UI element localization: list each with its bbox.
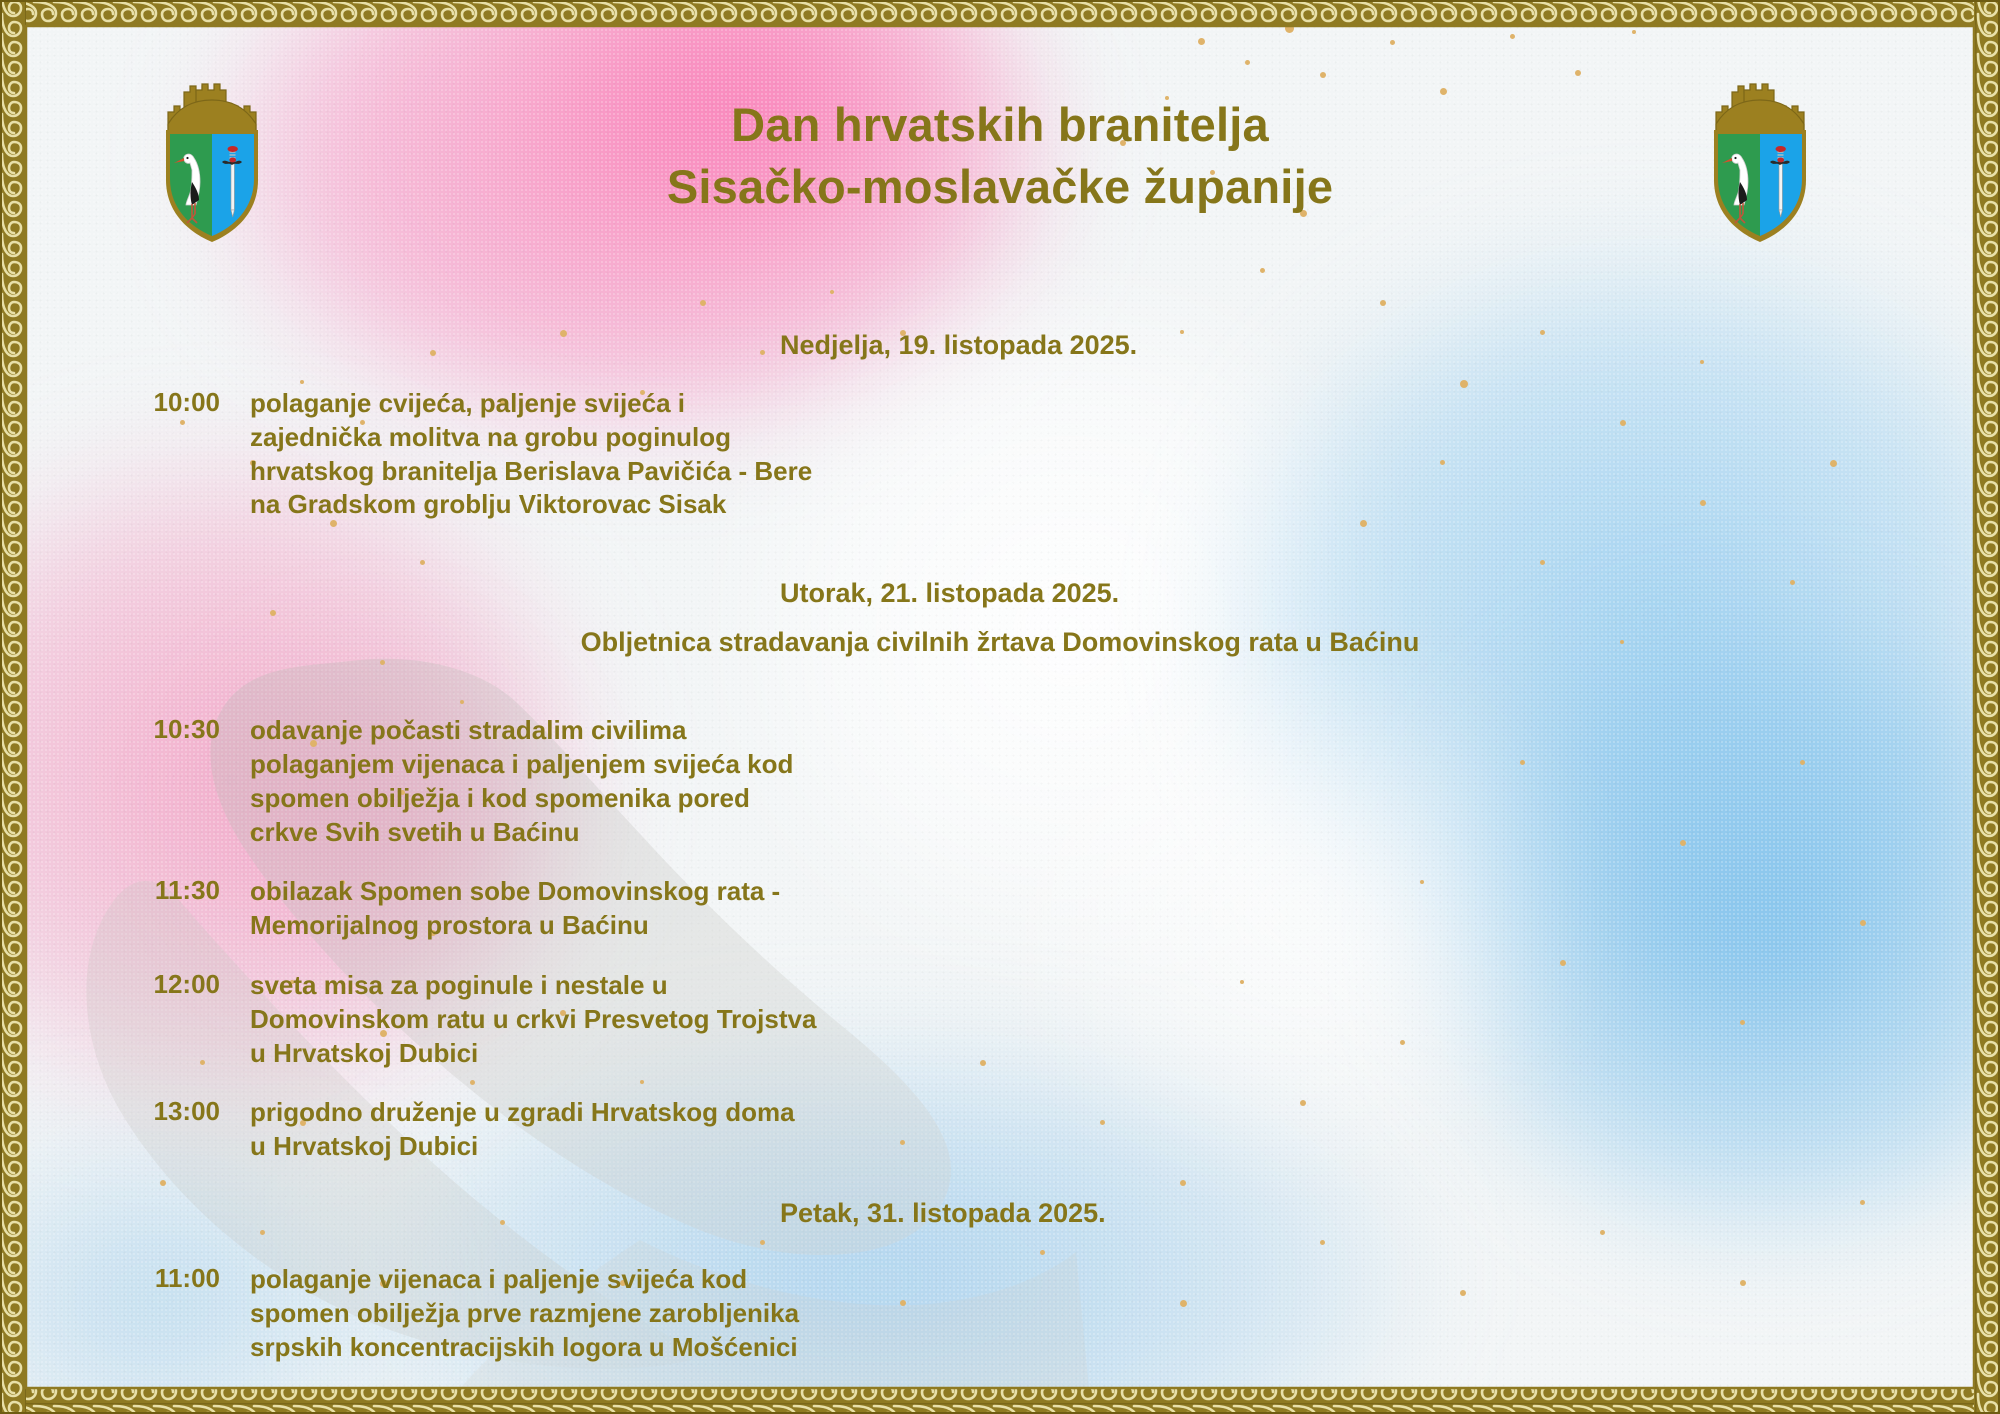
event-line: zajednička molitva na grobu poginulog (250, 421, 2000, 455)
page-title: Dan hrvatskih branitelja Sisačko-moslava… (0, 94, 2000, 218)
schedule-row: 10:30 odavanje počasti stradalim civilim… (0, 714, 2000, 849)
event-time: 10:30 (0, 714, 250, 849)
event-line: na Gradskom groblju Viktorovac Sisak (250, 488, 2000, 522)
event-line: polaganje vijenaca i paljenje svijeća ko… (250, 1263, 2000, 1297)
event-time: 10:00 (0, 387, 250, 522)
date-heading-2: Utorak, 21. listopada 2025. (780, 578, 2000, 609)
event-description: odavanje počasti stradalim civilima pola… (250, 714, 2000, 849)
event-line: hrvatskog branitelja Berislava Pavičića … (250, 455, 2000, 489)
event-line: srpskih koncentracijskih logora u Mošćen… (250, 1331, 2000, 1365)
schedule-row: 10:00 polaganje cvijeća, paljenje svijeć… (0, 387, 2000, 522)
date-heading-1: Nedjelja, 19. listopada 2025. (780, 330, 2000, 361)
event-line: Memorijalnog prostora u Baćinu (250, 909, 2000, 943)
event-time: 11:30 (0, 875, 250, 943)
event-description: obilazak Spomen sobe Domovinskog rata - … (250, 875, 2000, 943)
schedule: Nedjelja, 19. listopada 2025. 10:00 pola… (0, 330, 2000, 1364)
event-line: spomen obilježja prve razmjene zarobljen… (250, 1297, 2000, 1331)
schedule-row: 12:00 sveta misa za poginule i nestale u… (0, 969, 2000, 1070)
anniversary-subtitle: Obljetnica stradavanja civilnih žrtava D… (0, 627, 2000, 658)
event-line: u Hrvatskoj Dubici (250, 1037, 2000, 1071)
schedule-row: 13:00 prigodno druženje u zgradi Hrvatsk… (0, 1096, 2000, 1164)
event-line: odavanje počasti stradalim civilima (250, 714, 2000, 748)
event-line: obilazak Spomen sobe Domovinskog rata - (250, 875, 2000, 909)
event-line: sveta misa za poginule i nestale u (250, 969, 2000, 1003)
schedule-row: 11:30 obilazak Spomen sobe Domovinskog r… (0, 875, 2000, 943)
event-line: spomen obilježja i kod spomenika pored (250, 782, 2000, 816)
event-line: u Hrvatskoj Dubici (250, 1130, 2000, 1164)
title-line-2: Sisačko-moslavačke županije (0, 156, 2000, 218)
event-time: 11:00 (0, 1263, 250, 1364)
title-line-1: Dan hrvatskih branitelja (0, 94, 2000, 156)
poster-content: Dan hrvatskih branitelja Sisačko-moslava… (0, 0, 2000, 1414)
date-heading-3: Petak, 31. listopada 2025. (780, 1198, 2000, 1229)
schedule-row: 11:00 polaganje vijenaca i paljenje svij… (0, 1263, 2000, 1364)
event-line: polaganje cvijeća, paljenje svijeća i (250, 387, 2000, 421)
poster: Dan hrvatskih branitelja Sisačko-moslava… (0, 0, 2000, 1414)
event-description: sveta misa za poginule i nestale u Domov… (250, 969, 2000, 1070)
event-line: Domovinskom ratu u crkvi Presvetog Trojs… (250, 1003, 2000, 1037)
event-line: crkve Svih svetih u Baćinu (250, 816, 2000, 850)
event-description: polaganje cvijeća, paljenje svijeća i za… (250, 387, 2000, 522)
event-description: polaganje vijenaca i paljenje svijeća ko… (250, 1263, 2000, 1364)
event-time: 13:00 (0, 1096, 250, 1164)
event-description: prigodno druženje u zgradi Hrvatskog dom… (250, 1096, 2000, 1164)
event-line: polaganjem vijenaca i paljenjem svijeća … (250, 748, 2000, 782)
event-line: prigodno druženje u zgradi Hrvatskog dom… (250, 1096, 2000, 1130)
event-time: 12:00 (0, 969, 250, 1070)
